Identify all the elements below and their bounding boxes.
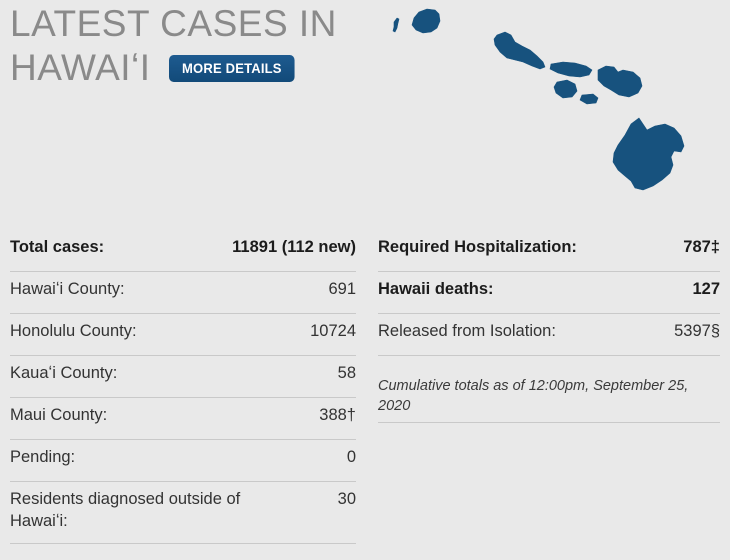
table-row-maui-county: Maui County: 388† (10, 404, 356, 440)
stat-label: Total cases: (10, 236, 114, 258)
stat-value: 58 (338, 362, 356, 384)
table-row-hawaii-county: Hawaiʻi County: 691 (10, 278, 356, 314)
table-row-total-cases: Total cases: 11891 (112 new) (10, 236, 356, 272)
stat-value: 388† (319, 404, 356, 426)
stat-value: 127 (692, 278, 720, 300)
hawaii-islands-map (385, 0, 730, 210)
stat-value: 5397§ (674, 320, 720, 342)
stat-value: 30 (338, 488, 356, 510)
island-maui (598, 66, 642, 97)
table-row-required-hospitalization: Required Hospitalization: 787‡ (378, 236, 720, 272)
stat-label: Hawaii deaths: (378, 278, 504, 300)
table-row-pending: Pending: 0 (10, 446, 356, 482)
table-row-residents-outside: Residents diagnosed outside of Hawaiʻi: … (10, 488, 356, 544)
table-row-kauai-county: Kauaʻi County: 58 (10, 362, 356, 398)
island-hawaii (613, 118, 684, 190)
stat-label: Released from Isolation: (378, 320, 566, 342)
hawaii-map-svg (385, 0, 730, 210)
table-row-hawaii-deaths: Hawaii deaths: 127 (378, 278, 720, 314)
stat-value: 10724 (310, 320, 356, 342)
stat-label: Pending: (10, 446, 85, 468)
island-molokai (550, 62, 592, 77)
stat-label: Kauaʻi County: (10, 362, 127, 384)
island-oahu (494, 32, 545, 69)
table-row-honolulu-county: Honolulu County: 10724 (10, 320, 356, 356)
title-and-button-row: HAWAIʻI MORE DETAILS (10, 46, 304, 90)
stat-label: Maui County: (10, 404, 117, 426)
stat-value: 11891 (112 new) (232, 236, 356, 258)
stat-label: Residents diagnosed outside of Hawaiʻi: (10, 488, 270, 532)
left-stats-table: Total cases: 11891 (112 new) Hawaiʻi Cou… (10, 236, 356, 550)
stat-label: Hawaiʻi County: (10, 278, 135, 300)
header: LATEST CASES IN HAWAIʻI MORE DETAILS (0, 0, 380, 210)
page-title-line1: LATEST CASES IN (10, 2, 370, 46)
stat-value: 787‡ (683, 236, 720, 258)
stat-label: Honolulu County: (10, 320, 147, 342)
more-details-button[interactable]: MORE DETAILS (169, 55, 295, 82)
cumulative-totals-footnote: Cumulative totals as of 12:00pm, Septemb… (378, 376, 720, 416)
page-title-line2: HAWAIʻI (10, 46, 151, 90)
island-kauai (412, 9, 440, 33)
island-kahoolawe (580, 94, 598, 104)
footnote-row: Cumulative totals as of 12:00pm, Septemb… (378, 376, 720, 423)
island-lanai (554, 80, 577, 98)
stat-value: 691 (328, 278, 356, 300)
island-niihau (393, 18, 399, 32)
stat-label: Required Hospitalization: (378, 236, 587, 258)
stat-value: 0 (347, 446, 356, 468)
right-stats-table: Required Hospitalization: 787‡ Hawaii de… (378, 236, 720, 423)
table-row-released-from-isolation: Released from Isolation: 5397§ (378, 320, 720, 356)
